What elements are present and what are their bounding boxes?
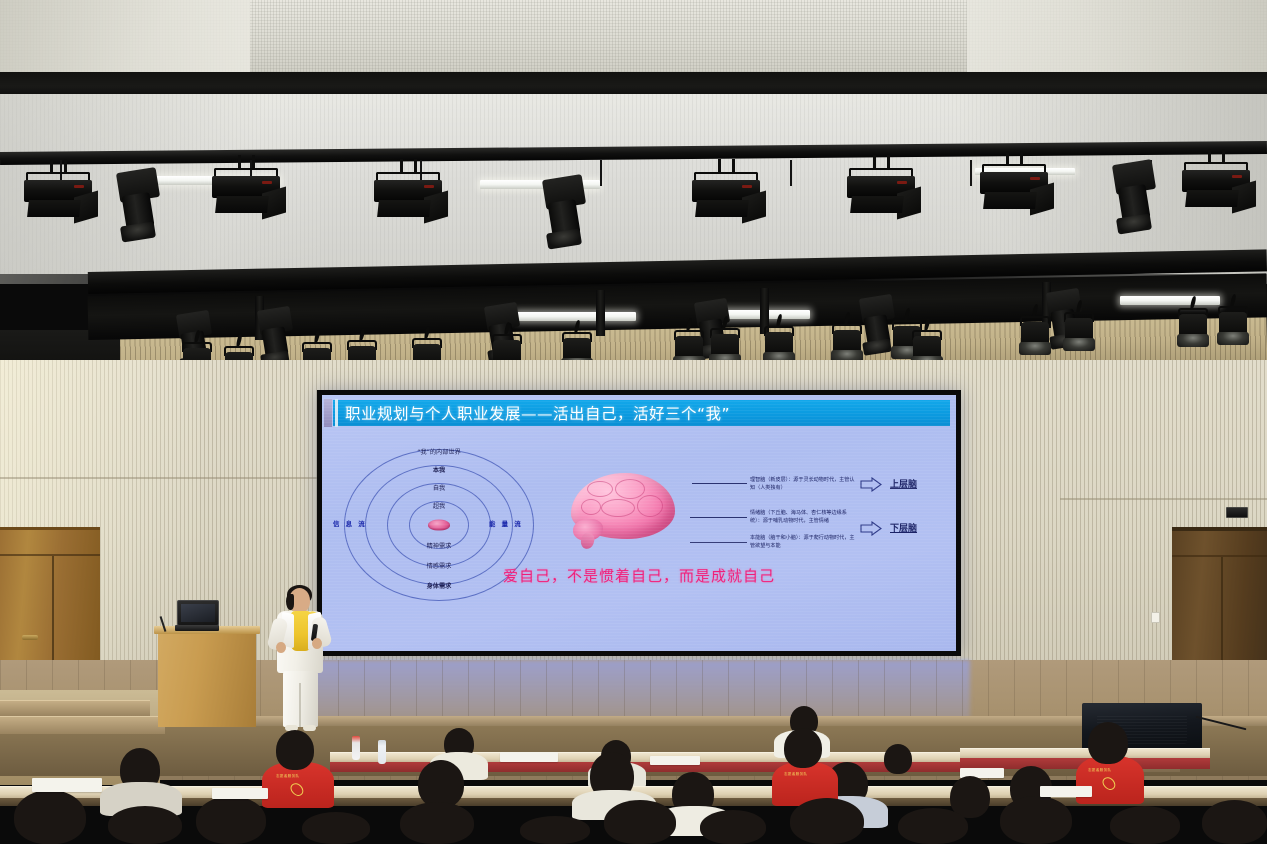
volunteer-vest-text: 志愿者服务队 (784, 772, 807, 777)
brain-icon (428, 520, 450, 531)
audience-head (196, 796, 266, 844)
door-handle-icon[interactable] (22, 635, 38, 640)
presenter-hair-side (286, 594, 294, 610)
brainstem-shape (579, 532, 595, 551)
volunteer-vest-text: 志愿者服务队 (276, 774, 299, 779)
audience-head (784, 728, 822, 768)
wooden-podium (158, 629, 256, 727)
annotation-label-lower-brain: 下层脑 (890, 521, 917, 534)
diagram-energy-flow-right: 能 量 流 (489, 519, 523, 528)
annotation-text-instinct-brain: 本能脑（脑干和小脑）：源于爬行动物时代，主管欲望与本能 (750, 535, 858, 550)
arrow-right-icon (860, 521, 882, 536)
led-display-wall: 职业规划与个人职业发展——活出自己，活好三个“我” “我”的内部世界 本我 自我… (317, 390, 961, 656)
diagram-label-spirit-need: 精神需求 (427, 541, 452, 550)
annotation-text-rational-brain: 理智脑（新皮层）：源于灵长动物时代，主管认知（人类独有） (750, 477, 858, 492)
audience-head (604, 800, 676, 844)
annotation-leader-line (690, 517, 747, 518)
stage-fresnel-light (845, 168, 917, 214)
slide-surface: 职业规划与个人职业发展——活出自己，活好三个“我” “我”的内部世界 本我 自我… (322, 395, 956, 651)
audience-head (520, 816, 590, 844)
door-transom (1172, 531, 1267, 557)
audience-head (790, 798, 864, 844)
truss-cable (600, 160, 602, 186)
laptop-screen (177, 600, 219, 626)
desk-paper (212, 788, 268, 799)
truss-cable (790, 160, 792, 186)
stage-par-light (1216, 294, 1250, 346)
annotation-leader-line (692, 483, 747, 484)
presenter-speaker (272, 588, 332, 733)
wall-seam (1060, 498, 1267, 500)
diagram-label-zi-wo: 自我 (433, 483, 445, 492)
stage-moving-head-light (257, 307, 293, 368)
stage-step (0, 700, 150, 716)
desk-paper (650, 756, 700, 765)
audience-head (302, 812, 370, 844)
stage-fresnel-light (22, 172, 94, 218)
stage-par-light (1062, 300, 1096, 352)
brain-gyrus (637, 495, 663, 517)
diagram-label-ben-wo: 本我 (433, 465, 445, 474)
diagram-label-chao-wo: 超我 (433, 501, 445, 510)
stage-fresnel-light (372, 172, 444, 218)
slide-title-bar: 职业规划与个人职业发展——活出自己，活好三个“我” (333, 400, 950, 426)
stage-step (0, 716, 165, 734)
audience-head (1110, 806, 1180, 844)
audience-head (1000, 796, 1072, 844)
slide-title: 职业规划与个人职业发展——活出自己，活好三个“我” (345, 402, 730, 424)
stage-moving-head-light (116, 168, 160, 242)
audience-head (1202, 800, 1267, 844)
audience-head (14, 790, 86, 844)
stage-par-light (762, 314, 796, 366)
audience-head (700, 810, 766, 844)
truss-vertical-post (596, 290, 605, 336)
presenter-leg-separation (299, 683, 301, 727)
arrow-right-icon (860, 477, 882, 492)
stage-par-light (1018, 304, 1052, 356)
ceiling-bevel-left (0, 0, 250, 78)
annotation-label-upper-brain: 上层脑 (890, 477, 917, 490)
stage-fresnel-light (1180, 162, 1252, 208)
diagram-caption: “我”的内部世界 (417, 447, 461, 456)
brain-gyrus (601, 499, 635, 517)
stage-fresnel-light (210, 168, 282, 214)
audience-head (418, 760, 464, 808)
brain-gyrus (581, 499, 601, 515)
brain-gyrus (587, 481, 613, 497)
door-transom (0, 530, 100, 556)
laptop-keyboard (175, 625, 219, 631)
volunteer-vest-text: 志愿者服务队 (1088, 768, 1111, 773)
presenter-hand-left (276, 642, 286, 653)
stage-par-light (830, 312, 864, 364)
water-bottle (352, 736, 360, 760)
slide-highlight-text: 爱自己，不是惯着自己，而是成就自己 (322, 565, 956, 586)
stage-par-light (1176, 296, 1210, 348)
water-bottle (378, 740, 386, 764)
wall-control-panel[interactable] (1226, 507, 1248, 518)
audience-head (108, 806, 182, 844)
desk-paper (500, 752, 558, 762)
stage-fresnel-light (978, 164, 1050, 210)
desk-paper (32, 778, 102, 792)
desk-paper (1040, 786, 1092, 797)
brain-gyrus (615, 479, 645, 499)
annotation-text-emotional-brain: 情绪脑（下丘脑、海马体、杏仁核等边缘系统）：源于哺乳动物时代，主管情绪 (750, 510, 858, 525)
presenter-hand-right (312, 638, 322, 649)
ceiling-bevel-right (967, 0, 1267, 78)
stage-moving-head-light (542, 175, 586, 249)
diagram-info-flow-left: 信 息 流 (333, 519, 367, 528)
stage-fresnel-light (690, 172, 762, 218)
audience-head (898, 808, 968, 844)
wall-seam (0, 477, 330, 479)
stage-moving-head-light (1112, 160, 1156, 234)
presenter-shoe-right (303, 725, 316, 731)
annotation-leader-line (690, 542, 747, 543)
lecture-hall-scene: 职业规划与个人职业发展——活出自己，活好三个“我” “我”的内部世界 本我 自我… (0, 0, 1267, 844)
audience-head (276, 730, 314, 770)
audience-head (884, 744, 912, 774)
audience-head (400, 802, 474, 844)
audience-head (1088, 722, 1128, 764)
wall-light-switch[interactable] (1151, 612, 1160, 623)
truss-cable (970, 160, 972, 186)
title-accent-bar (324, 399, 332, 427)
title-accent-bar-inner (335, 399, 338, 427)
ceiling-dark-recess (0, 72, 1267, 96)
brain-illustration (567, 465, 681, 551)
